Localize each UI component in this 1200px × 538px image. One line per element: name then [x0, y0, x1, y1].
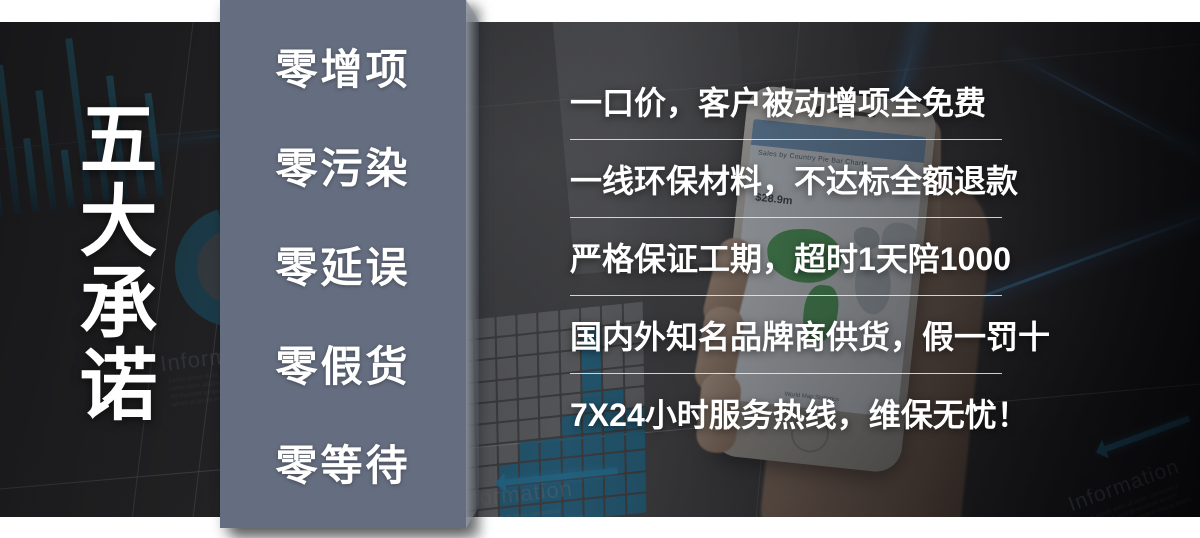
panel-item-4: 零等待 — [275, 432, 410, 493]
promise-text-2: 严格保证工期，超时1天陪1000 — [570, 234, 1011, 280]
promise-text-3: 国内外知名品牌商供货，假一罚十 — [570, 312, 1050, 358]
promise-row: 国内外知名品牌商供货，假一罚十 — [570, 296, 1002, 374]
promise-row: 7X24小时服务热线，维保无忧！ — [570, 374, 1002, 451]
panel-item-1: 零污染 — [275, 135, 410, 196]
promise-row: 一线环保材料，不达标全额退款 — [570, 140, 1002, 218]
zero-promise-panel: 零增项 零污染 零延误 零假货 零等待 — [220, 0, 466, 528]
panel-item-0: 零增项 — [275, 36, 410, 97]
panel-item-2: 零延误 — [275, 234, 410, 295]
promise-text-0: 一口价，客户被动增项全免费 — [570, 78, 986, 124]
promise-row: 严格保证工期，超时1天陪1000 — [570, 218, 1002, 296]
promise-text-1: 一线环保材料，不达标全额退款 — [570, 156, 1018, 202]
promise-text-4: 7X24小时服务热线，维保无忧！ — [570, 390, 1029, 436]
panel-bevel — [466, 0, 479, 528]
page-title: 五大承诺 — [72, 98, 152, 426]
promise-banner: Information Information Information Lore… — [0, 0, 1200, 538]
panel-item-3: 零假货 — [275, 333, 410, 394]
promise-list: 一口价，客户被动增项全免费 一线环保材料，不达标全额退款 严格保证工期，超时1天… — [570, 62, 1002, 451]
promise-row: 一口价，客户被动增项全免费 — [570, 62, 1002, 140]
